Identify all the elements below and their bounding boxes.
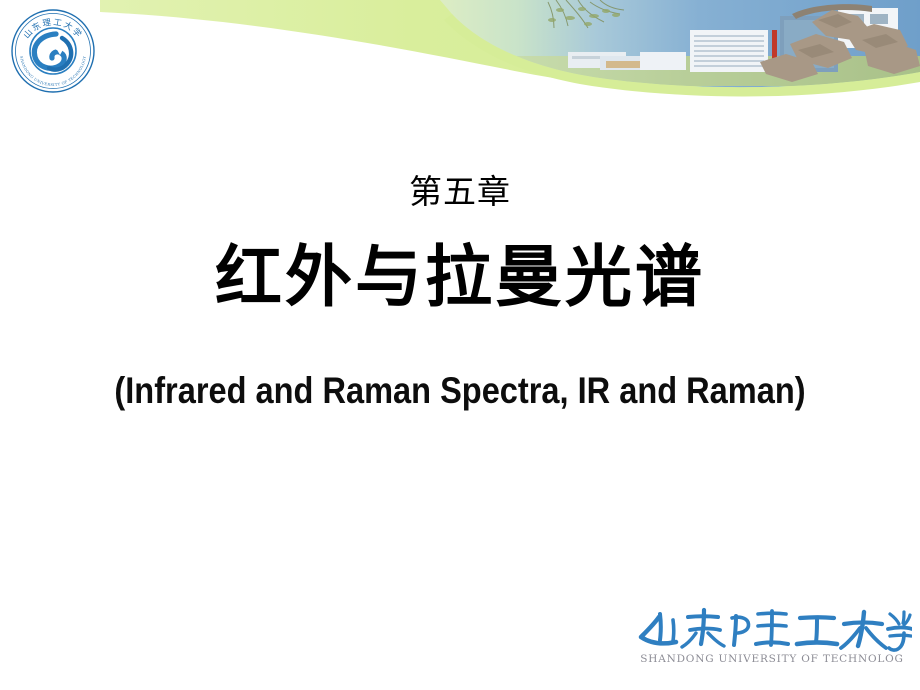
title-block: 第五章 红外与拉曼光谱 (Infrared and Raman Spectra,… [0,0,920,690]
page-title: 红外与拉曼光谱 [0,237,920,317]
wordmark-calligraphy [641,610,912,650]
footer-wordmark-english: SHANDONG UNIVERSITY OF TECHNOLOG [640,653,903,665]
chapter-label: 第五章 [0,172,920,212]
university-seal: 山东理工大学 SHANDONG UNIVERSITY OF TECHNOLOGY [10,8,96,94]
header-banner [0,0,920,100]
footer-wordmark: SHANDONG UNIVERSITY OF TECHNOLOG [632,600,912,668]
seal-graphic: 山东理工大学 SHANDONG UNIVERSITY OF TECHNOLOGY [10,8,96,94]
banner-graphic [0,0,920,100]
footer-wordmark-graphic: SHANDONG UNIVERSITY OF TECHNOLOG [632,600,912,668]
page-subtitle: (Infrared and Raman Spectra, IR and Rama… [55,367,865,415]
slide-canvas: 山东理工大学 SHANDONG UNIVERSITY OF TECHNOLOGY… [0,0,920,690]
